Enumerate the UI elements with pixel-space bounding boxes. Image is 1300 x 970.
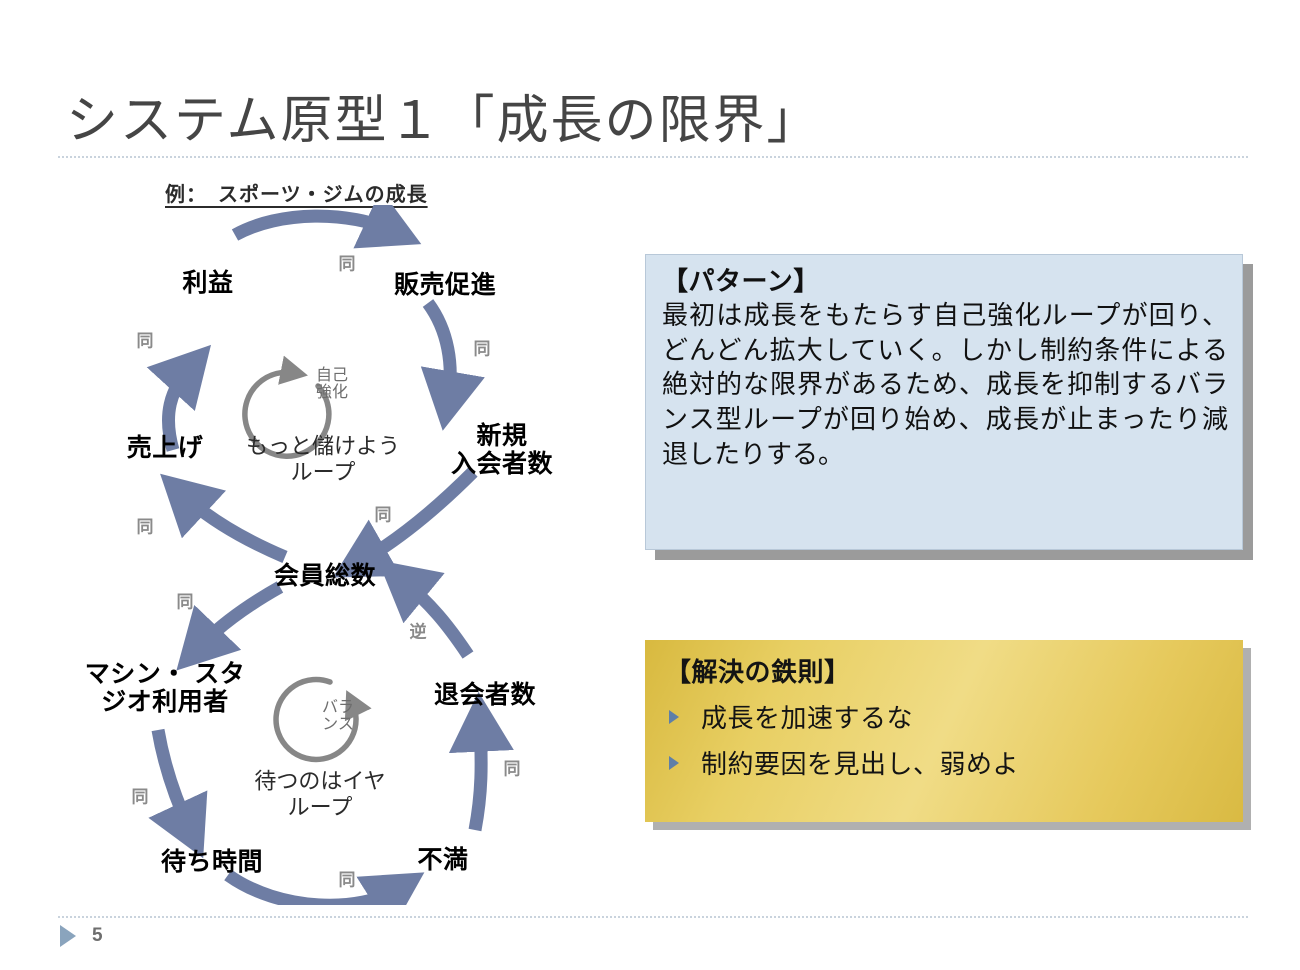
polarity-machine-machi: 同: [132, 783, 149, 808]
arrow-kaiin-to-machine: [198, 587, 280, 648]
balancing-loop-type: バラ ンス: [322, 700, 354, 734]
polarity-hanbai-shinki: 同: [474, 335, 491, 360]
triangle-marker-icon: [60, 925, 76, 947]
reinforcing-loop-type: 自己 強化: [316, 368, 348, 402]
polarity-kaiin-uriage: 同: [137, 513, 154, 538]
node-hanbai: 販売促進: [394, 271, 496, 299]
node-machine: マシン・ スタ ジオ利用者: [85, 660, 245, 716]
node-kaiin: 会員総数: [274, 562, 376, 590]
causal-loop-diagram: 利益 販売促進 新規 入会者数 会員総数 売上げ マシン・ スタ ジオ利用者 待…: [30, 205, 630, 905]
pattern-panel-body: 最初は成長をもたらす自己強化ループが回り、どんどん拡大していく。しかし制約条件に…: [662, 298, 1228, 471]
example-caption: 例： スポーツ・ジムの成長: [165, 178, 428, 207]
page-number: 5: [92, 925, 103, 947]
node-fuman: 不満: [417, 846, 468, 874]
pattern-panel-heading: 【パターン】: [662, 265, 1228, 298]
footer-divider: [58, 916, 1248, 918]
title-divider: [58, 156, 1248, 158]
polarity-rieki-hanbai: 同: [339, 250, 356, 275]
page-marker: 5: [60, 925, 103, 947]
node-taikai: 退会者数: [434, 681, 536, 709]
polarity-fuman-taikai: 同: [504, 755, 521, 780]
rule-item-label: 成長を加速するな: [701, 698, 913, 735]
rule-item: 成長を加速するな: [669, 698, 1229, 735]
node-machijikan: 待ち時間: [161, 848, 263, 876]
node-shinki: 新規 入会者数: [451, 422, 553, 478]
pattern-panel: 【パターン】 最初は成長をもたらす自己強化ループが回り、どんどん拡大していく。し…: [645, 254, 1243, 550]
arrow-machijikan-to-fuman: [228, 875, 398, 905]
arrow-rieki-to-hanbai: [235, 216, 393, 235]
node-uriage: 売上げ: [127, 434, 204, 462]
polarity-taikai-kaiin: 逆: [410, 618, 427, 643]
triangle-bullet-icon: [669, 710, 679, 724]
reinforcing-loop-name: もっと儲けよう ループ: [246, 434, 400, 487]
rule-item-label: 制約要因を見出し、弱めよ: [701, 744, 1019, 781]
triangle-bullet-icon: [669, 756, 679, 770]
polarity-shinki-kaiin: 同: [375, 501, 392, 526]
rule-panel-heading: 【解決の鉄則】: [665, 652, 1229, 689]
rule-item: 制約要因を見出し、弱めよ: [669, 744, 1229, 781]
arrow-kaiin-to-uriage: [183, 495, 285, 557]
arrow-hanbai-to-shinki: [428, 303, 450, 400]
balancing-loop-name: 待つのはイヤ ループ: [254, 769, 385, 822]
polarity-kaiin-machine: 同: [177, 588, 194, 613]
rule-panel: 【解決の鉄則】 成長を加速するな 制約要因を見出し、弱めよ: [645, 640, 1243, 822]
arrow-machine-to-machijikan: [158, 730, 190, 830]
polarity-machi-fuman: 同: [339, 866, 356, 891]
node-rieki: 利益: [182, 269, 233, 297]
page-title: システム原型１「成長の限界」: [66, 78, 820, 153]
arrow-fuman-to-taikai: [475, 723, 481, 830]
polarity-uriage-rieki: 同: [137, 327, 154, 352]
